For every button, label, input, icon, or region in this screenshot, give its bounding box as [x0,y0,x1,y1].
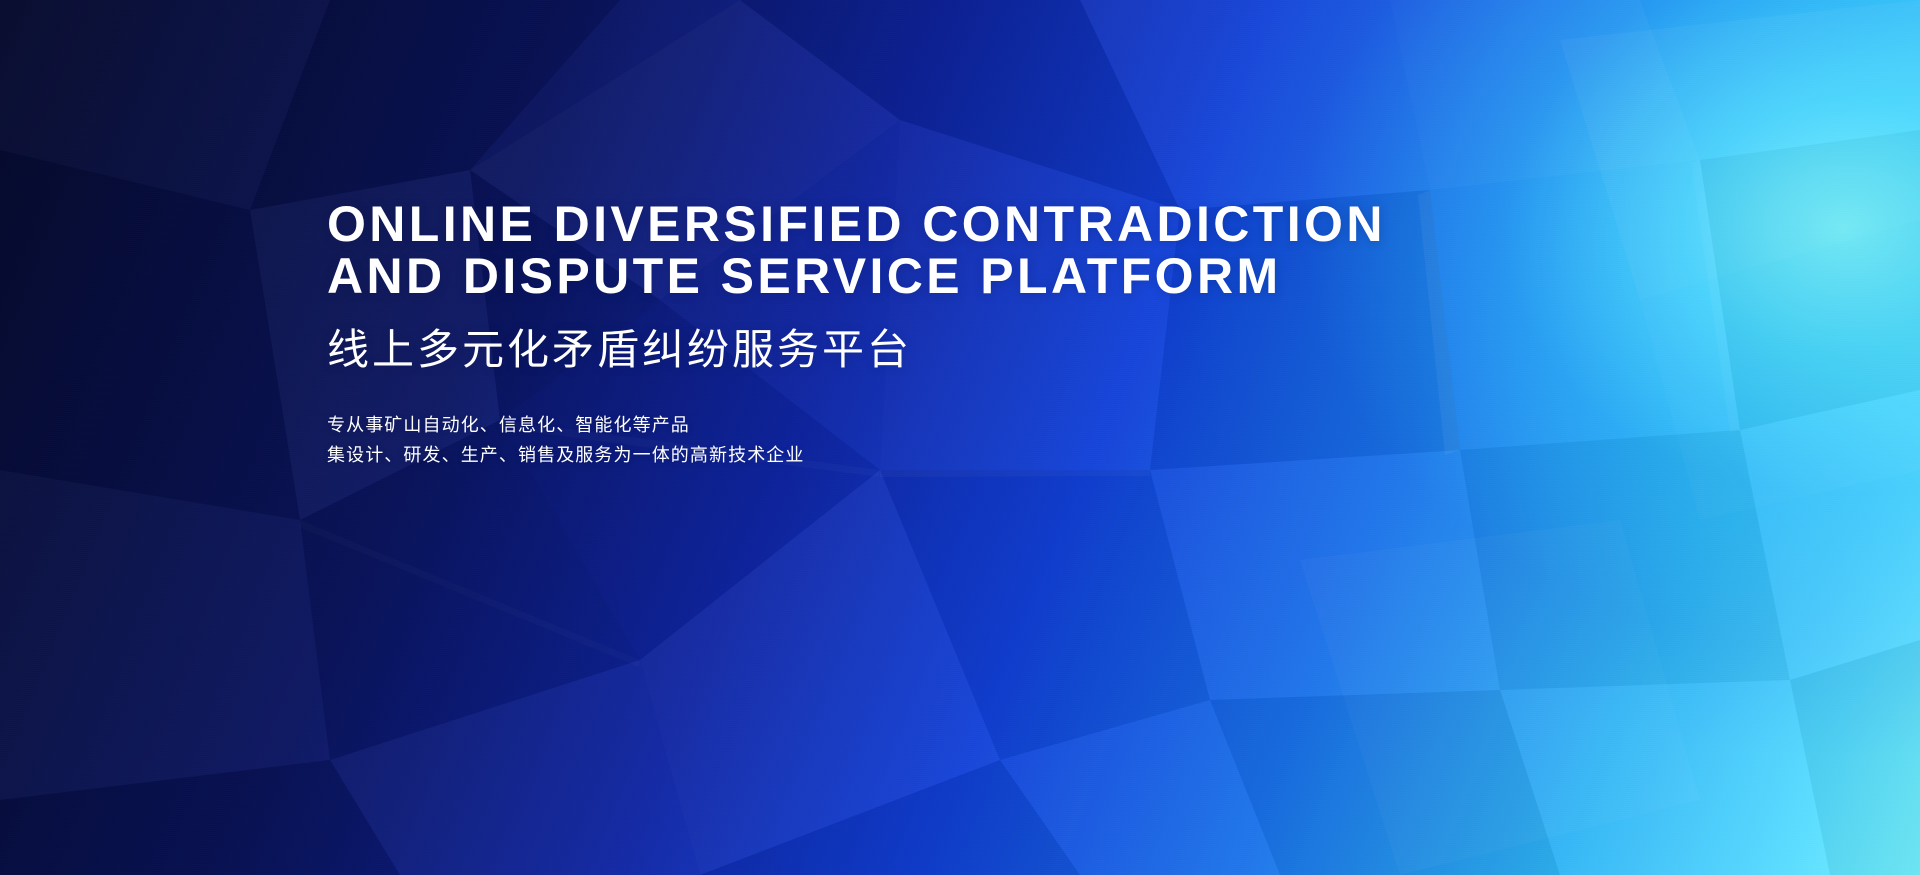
hero-description: 专从事矿山自动化、信息化、智能化等产品 集设计、研发、生产、销售及服务为一体的高… [327,410,1727,470]
hero-description-line-1: 专从事矿山自动化、信息化、智能化等产品 [327,410,1727,440]
hero-headline-line-2: and Dispute Service Platform [327,250,1727,302]
hero-headline-line-1: Online Diversified Contradiction [327,198,1727,250]
hero-content: Online Diversified Contradiction and Dis… [327,198,1727,470]
hero-subtitle: 线上多元化矛盾纠纷服务平台 [327,326,1727,374]
hero-description-line-2: 集设计、研发、生产、销售及服务为一体的高新技术企业 [327,440,1727,470]
hero-headline: Online Diversified Contradiction and Dis… [327,198,1727,302]
hero-banner: Online Diversified Contradiction and Dis… [0,0,1920,875]
